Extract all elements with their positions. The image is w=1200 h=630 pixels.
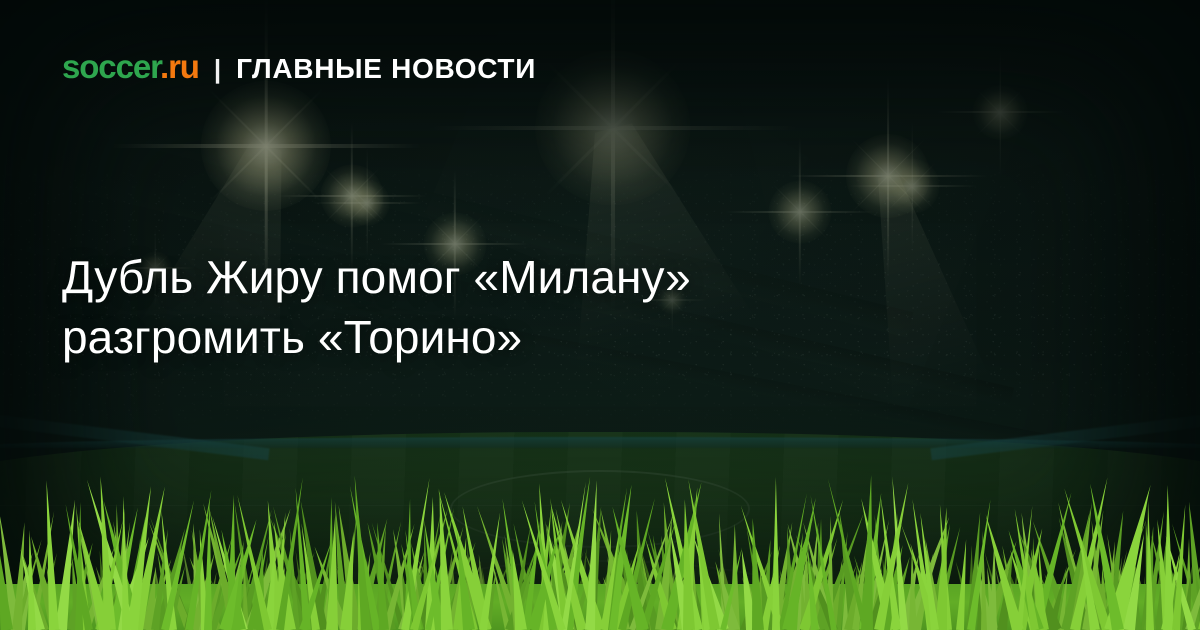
headline-line-2: разгромить «Торино» <box>62 308 962 368</box>
header-separator: | <box>212 56 223 82</box>
header-kicker: ГЛАВНЫЕ НОВОСТИ <box>236 55 536 83</box>
site-header: soccer.ru | ГЛАВНЫЕ НОВОСТИ <box>62 50 536 83</box>
news-card: soccer.ru | ГЛАВНЫЕ НОВОСТИ Дубль Жиру п… <box>0 0 1200 630</box>
logo-text-ru: .ru <box>160 48 199 85</box>
grass-blade <box>772 477 780 630</box>
article-headline: Дубль Жиру помог «Милану» разгромить «То… <box>62 248 962 368</box>
soccer-ru-logo[interactable]: soccer.ru <box>62 50 199 83</box>
logo-text-soccer: soccer <box>62 48 160 85</box>
headline-line-1: Дубль Жиру помог «Милану» <box>62 248 962 308</box>
grass-foreground <box>0 470 1200 630</box>
